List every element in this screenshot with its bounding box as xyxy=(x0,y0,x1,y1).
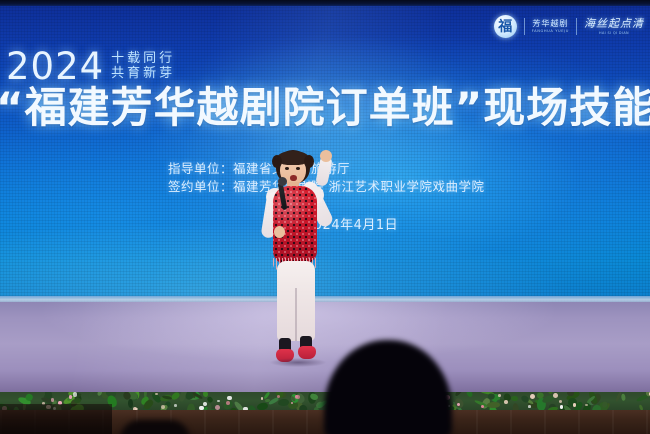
foliage-bloom xyxy=(530,394,535,399)
logo-divider xyxy=(524,18,525,35)
foliage-bloom xyxy=(73,392,78,397)
microphone-head-icon xyxy=(278,177,287,186)
stage-performance-photo: 芳华越剧 FANGHUA YUEJU 海丝起点清 HAI SI QI DIAN … xyxy=(0,0,650,434)
performer-hair-bun-right xyxy=(304,155,314,168)
haisi-logo-cn: 海丝起点清 xyxy=(584,18,644,30)
foliage-leaf xyxy=(454,392,463,397)
foliage-bloom xyxy=(261,397,263,399)
audience-head-silhouette-secondary xyxy=(120,420,190,434)
foliage-leaf xyxy=(511,395,519,401)
foliage-bloom xyxy=(51,398,55,402)
performer-floor-shadow xyxy=(270,358,326,367)
fanghua-logo: 芳华越剧 FANGHUA YUEJU xyxy=(532,20,569,33)
performer-girl xyxy=(252,148,344,370)
foliage-bloom xyxy=(227,396,232,401)
fu-seal-icon xyxy=(494,15,517,38)
slogan-line-1: 十载同行 xyxy=(111,52,175,66)
foliage-bloom xyxy=(481,405,484,408)
foliage-leaf xyxy=(621,393,626,400)
organiser-lines: 指导单位：福建省文化和旅游厅 签约单位：福建芳华越剧院 浙江艺术职业学院戏曲学院 xyxy=(168,160,588,196)
foliage-bloom xyxy=(498,394,501,397)
year-slogan-block: 2024 十载同行 共育新芽 xyxy=(6,48,175,85)
foliage-bloom xyxy=(174,404,177,407)
guiding-unit-line: 指导单位：福建省文化和旅游厅 xyxy=(168,160,588,178)
foliage-bloom xyxy=(504,400,508,404)
foliage-leaf xyxy=(487,401,501,408)
foliage-bloom xyxy=(155,393,157,395)
performer-right-hand xyxy=(320,150,332,162)
haisi-logo-en: HAI SI QI DIAN xyxy=(599,31,629,35)
foliage-bloom xyxy=(553,393,558,398)
event-year: 2024 xyxy=(6,48,104,85)
sponsor-logo-strip: 芳华越剧 FANGHUA YUEJU 海丝起点清 HAI SI QI DIAN xyxy=(494,14,644,38)
performer-mouth xyxy=(290,175,297,181)
foliage-bloom xyxy=(226,401,230,405)
backdrop-main-title: “福建芳华越剧院订单班”现场技能 xyxy=(0,84,650,132)
stage-front-panel-shadow xyxy=(0,404,112,434)
performer-left-hand xyxy=(274,226,285,238)
foliage-bloom xyxy=(69,395,73,399)
event-slogan: 十载同行 共育新芽 xyxy=(111,52,175,81)
signing-unit-line: 签约单位：福建芳华越剧院 浙江艺术职业学院戏曲学院 xyxy=(168,178,588,196)
logo-divider-2 xyxy=(576,18,577,35)
foliage-leaf xyxy=(128,399,134,408)
foliage-leaf xyxy=(88,392,96,399)
fanghua-logo-en: FANGHUA YUEJU xyxy=(532,29,569,33)
foliage-bloom xyxy=(559,400,562,403)
performer-eye-right xyxy=(296,167,300,170)
performer-eye-left xyxy=(285,167,289,170)
fanghua-logo-cn: 芳华越剧 xyxy=(532,20,568,28)
slogan-line-2: 共育新芽 xyxy=(111,67,175,81)
performer-pant-split xyxy=(295,288,297,341)
foliage-bloom xyxy=(215,405,220,410)
performer-hair-bun-left xyxy=(272,155,282,168)
foliage-bloom xyxy=(291,402,293,404)
haisi-logo: 海丝起点清 HAI SI QI DIAN xyxy=(584,18,644,35)
foliage-bloom xyxy=(528,405,531,408)
foliage-leaf xyxy=(465,392,473,398)
foliage-bloom xyxy=(217,400,220,403)
